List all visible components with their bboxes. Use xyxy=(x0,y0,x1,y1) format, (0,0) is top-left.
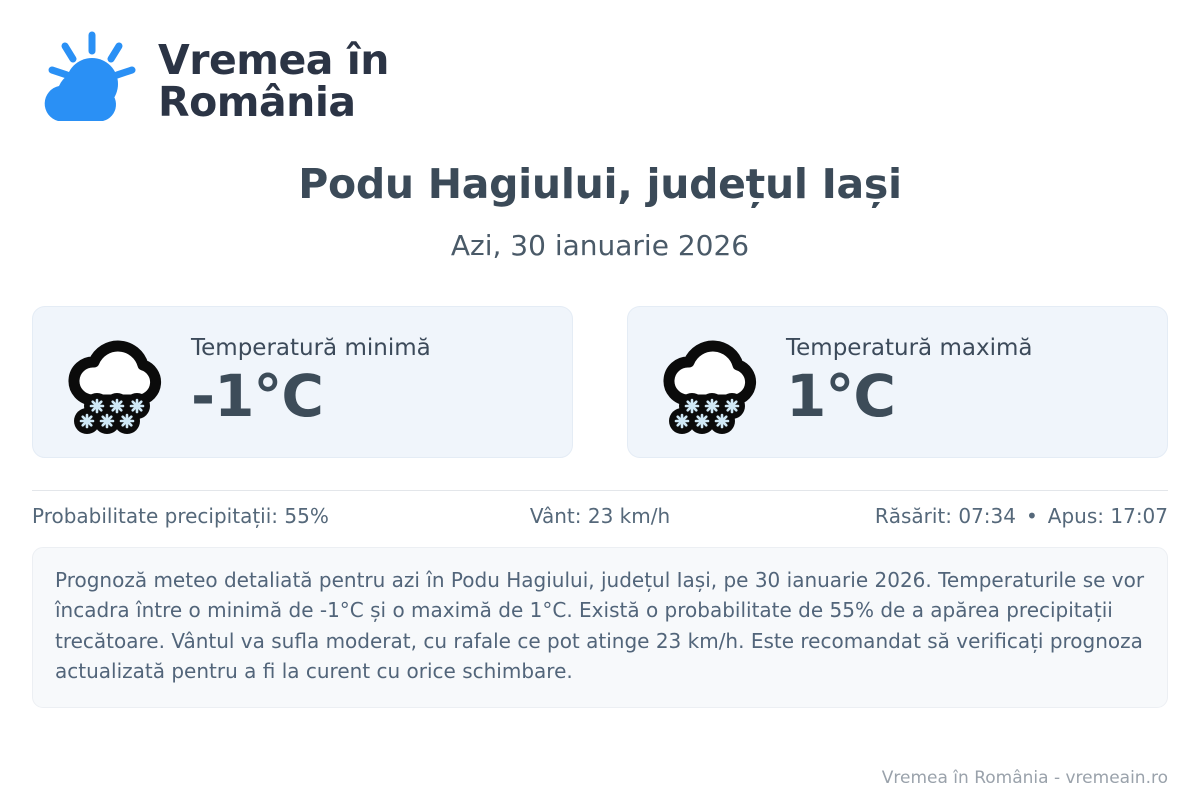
stats-row: Probabilitate precipitații: 55% Vânt: 23… xyxy=(32,491,1168,541)
weather-page: Vremea în România Podu Hagiului, județul… xyxy=(0,0,1200,800)
stat-wind: Vânt: 23 km/h xyxy=(411,504,790,528)
snow-cloud-icon xyxy=(654,330,772,434)
stat-sunrise: Răsărit: 07:34 xyxy=(875,504,1016,528)
footer-credit: Vremea în România - vremeain.ro xyxy=(882,768,1168,788)
stat-sunset: Apus: 17:07 xyxy=(1048,504,1168,528)
card-min-value: -1°C xyxy=(191,366,431,427)
card-max-value: 1°C xyxy=(786,366,1032,427)
page-subtitle: Azi, 30 ianuarie 2026 xyxy=(32,229,1168,262)
temperature-cards: Temperatură minimă -1°C xyxy=(32,306,1168,458)
card-max-label: Temperatură maximă xyxy=(786,337,1032,360)
stat-sun: Răsărit: 07:34•Apus: 17:07 xyxy=(789,504,1168,528)
stat-separator-dot: • xyxy=(1026,504,1038,528)
card-min-temperature: Temperatură minimă -1°C xyxy=(32,306,573,458)
card-min-label: Temperatură minimă xyxy=(191,337,431,360)
sun-behind-cloud-icon xyxy=(32,29,138,135)
forecast-description: Prognoză meteo detaliată pentru azi în P… xyxy=(32,547,1168,708)
card-min-body: Temperatură minimă -1°C xyxy=(191,337,431,427)
snow-cloud-icon xyxy=(59,330,177,434)
card-max-temperature: Temperatură maximă 1°C xyxy=(627,306,1168,458)
brand-name: Vremea în România xyxy=(158,40,389,124)
brand-header: Vremea în România xyxy=(32,0,1168,118)
page-title: Podu Hagiului, județul Iași xyxy=(32,160,1168,208)
card-max-body: Temperatură maximă 1°C xyxy=(786,337,1032,427)
stat-precipitation: Probabilitate precipitații: 55% xyxy=(32,504,411,528)
